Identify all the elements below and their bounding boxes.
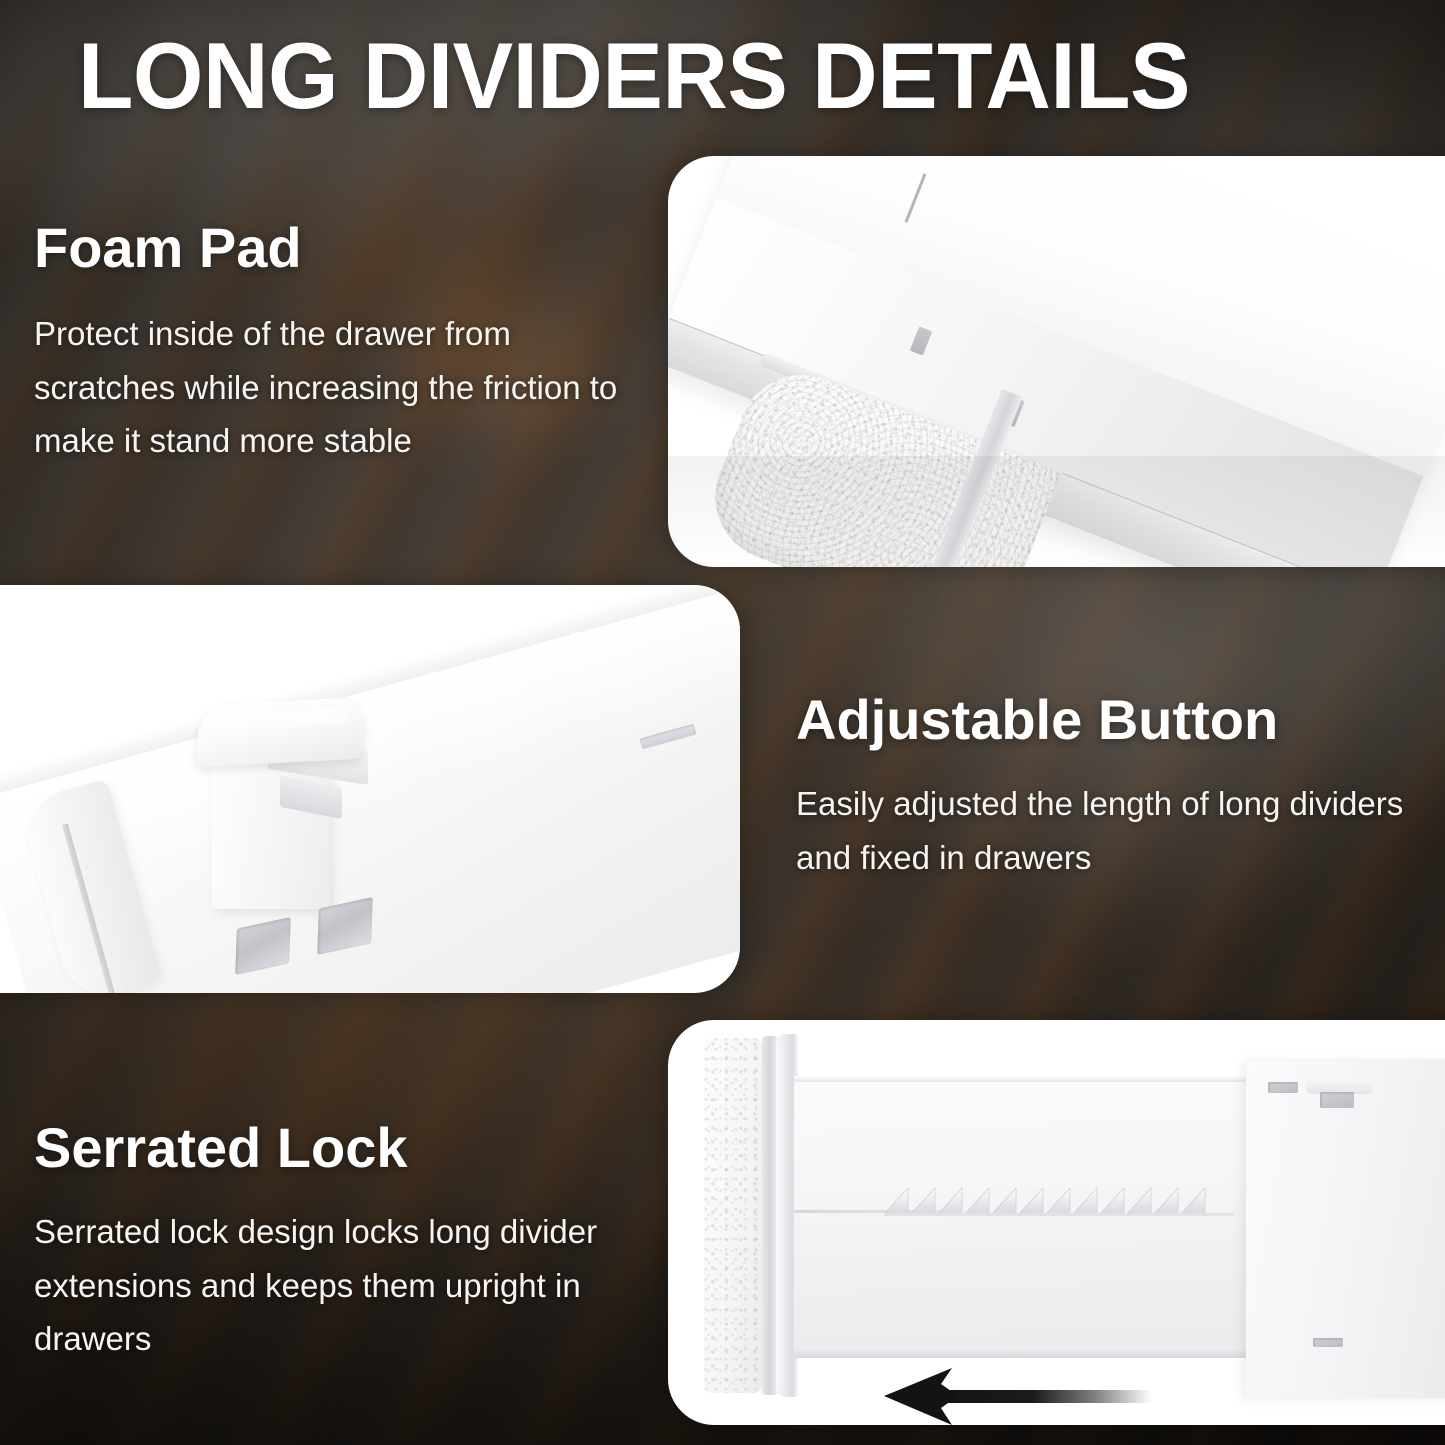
feature-text-adjustable-button: Adjustable Button Easily adjusted the le… xyxy=(790,690,1410,884)
feature-text-serrated-lock: Serrated Lock Serrated lock design locks… xyxy=(34,1118,644,1366)
foam-pad-end xyxy=(704,1038,762,1393)
feature-image-adjustable-button xyxy=(0,585,740,993)
feature-body-foam-pad: Protect inside of the drawer from scratc… xyxy=(34,307,634,467)
feature-heading-serrated-lock: Serrated Lock xyxy=(34,1118,644,1177)
adjustable-button-illustration xyxy=(0,585,740,993)
sliding-divider-notch-bottom xyxy=(1313,1338,1343,1347)
serrated-teeth xyxy=(884,1180,1234,1218)
feature-text-foam-pad: Foam Pad Protect inside of the drawer fr… xyxy=(34,218,634,468)
sliding-divider-panel xyxy=(1246,1060,1445,1398)
feature-body-serrated-lock: Serrated lock design locks long divider … xyxy=(34,1205,644,1365)
serrated-lock-illustration xyxy=(668,1020,1445,1425)
page-title-text: LONG DIVIDERS DETAILS xyxy=(78,29,1190,123)
left-arrow-icon xyxy=(884,1368,1152,1426)
feature-body-adjustable-button: Easily adjusted the length of long divid… xyxy=(796,777,1410,884)
sliding-divider-notch-small xyxy=(1268,1082,1298,1093)
divider-rail-top xyxy=(794,1076,1249,1082)
adjustable-button-cap[interactable] xyxy=(195,697,366,768)
feature-image-foam-pad xyxy=(668,156,1445,567)
feature-heading-foam-pad: Foam Pad xyxy=(34,218,634,277)
page-title: LONG DIVIDERS DETAILS xyxy=(78,22,1408,130)
foam-pad-illustration xyxy=(668,156,1445,567)
feature-heading-adjustable-button: Adjustable Button xyxy=(796,690,1410,749)
feature-image-serrated-lock xyxy=(668,1020,1445,1425)
sliding-divider-notch-tab xyxy=(1320,1092,1354,1108)
divider-rail-bottom xyxy=(794,1350,1249,1358)
